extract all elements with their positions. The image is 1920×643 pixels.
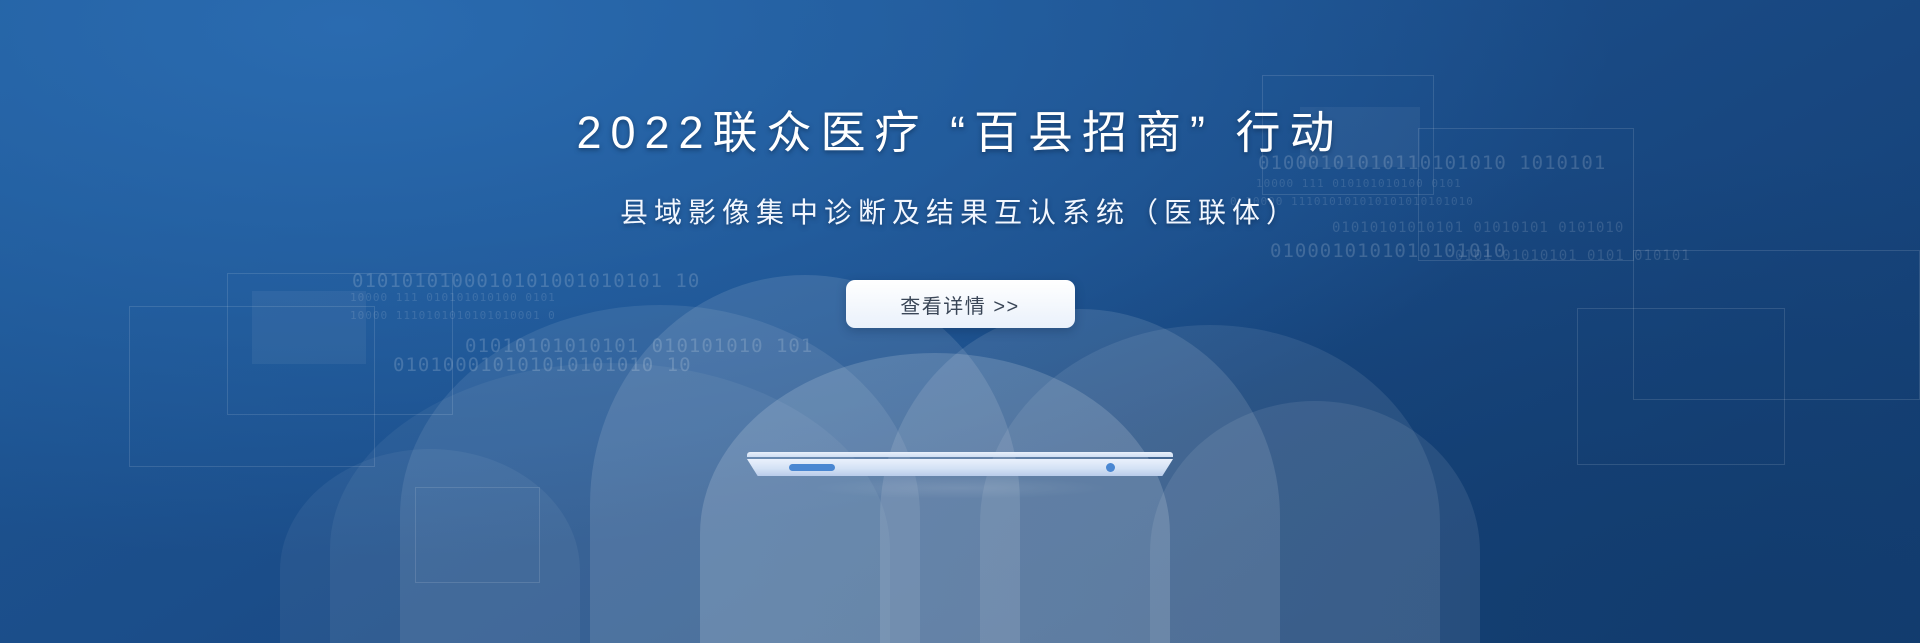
banner-title: 2022联众医疗 “百县招商” 行动 [576,96,1343,161]
device-gap [747,457,1173,459]
laptop-device-graphic [747,452,1173,476]
banner-subtitle: 县域影像集中诊断及结果互认系统（医联体） [620,191,1300,231]
promo-banner: 0101010100010101001010101 10 10000 111 0… [0,0,1920,643]
device-shadow [810,477,1110,499]
device-indicator-pill [789,464,835,471]
device-base [747,459,1173,476]
view-details-button[interactable]: 查看详情 >> [846,280,1075,328]
device-indicator-dot [1106,463,1115,472]
banner-content: 2022联众医疗 “百县招商” 行动 县域影像集中诊断及结果互认系统（医联体） … [0,0,1920,643]
